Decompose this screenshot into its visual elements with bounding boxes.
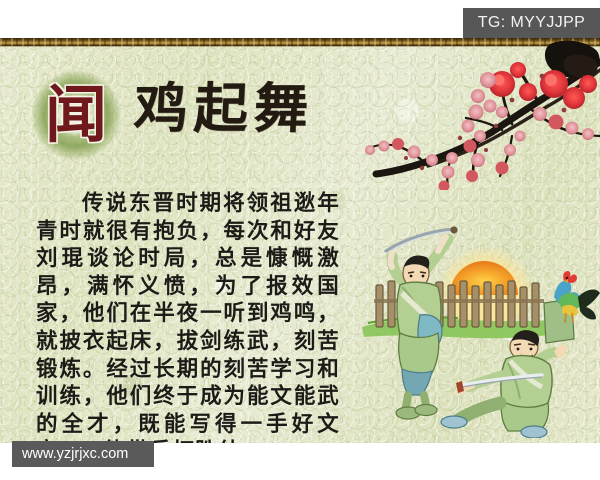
seated-warrior (441, 330, 567, 438)
title-seal-stamp: 闻 (32, 70, 120, 162)
seated-warrior-shoe (441, 416, 467, 428)
telegram-tag-badge: TG: MYYJJPP (463, 8, 600, 38)
title-remaining-characters: 鸡起舞 (133, 80, 316, 137)
poster-page: TG: MYYJJPP 闻 鸡起舞 传说东晋时期将领祖逖年青时就很有抱负，每次和… (0, 0, 600, 480)
story-paragraph: 传说东晋时期将领祖逖年青时就很有抱负，每次和好友刘琨谈论时局，总是慷慨激昂，满怀… (36, 190, 340, 443)
poster-title: 闻 鸡起舞 (30, 66, 360, 166)
poster-canvas: 闻 鸡起舞 传说东晋时期将领祖逖年青时就很有抱负，每次和好友刘琨谈论时局，总是慷… (0, 38, 600, 443)
rooster-tail (578, 290, 600, 320)
title-first-character: 闻 (32, 70, 120, 160)
warrior-trousers (402, 369, 432, 395)
story-illustration (358, 223, 600, 438)
site-watermark: www.yzjrjxc.com (12, 441, 154, 467)
plum-blossom-branch-artwork (352, 40, 600, 190)
seated-warrior-leg (460, 403, 500, 419)
